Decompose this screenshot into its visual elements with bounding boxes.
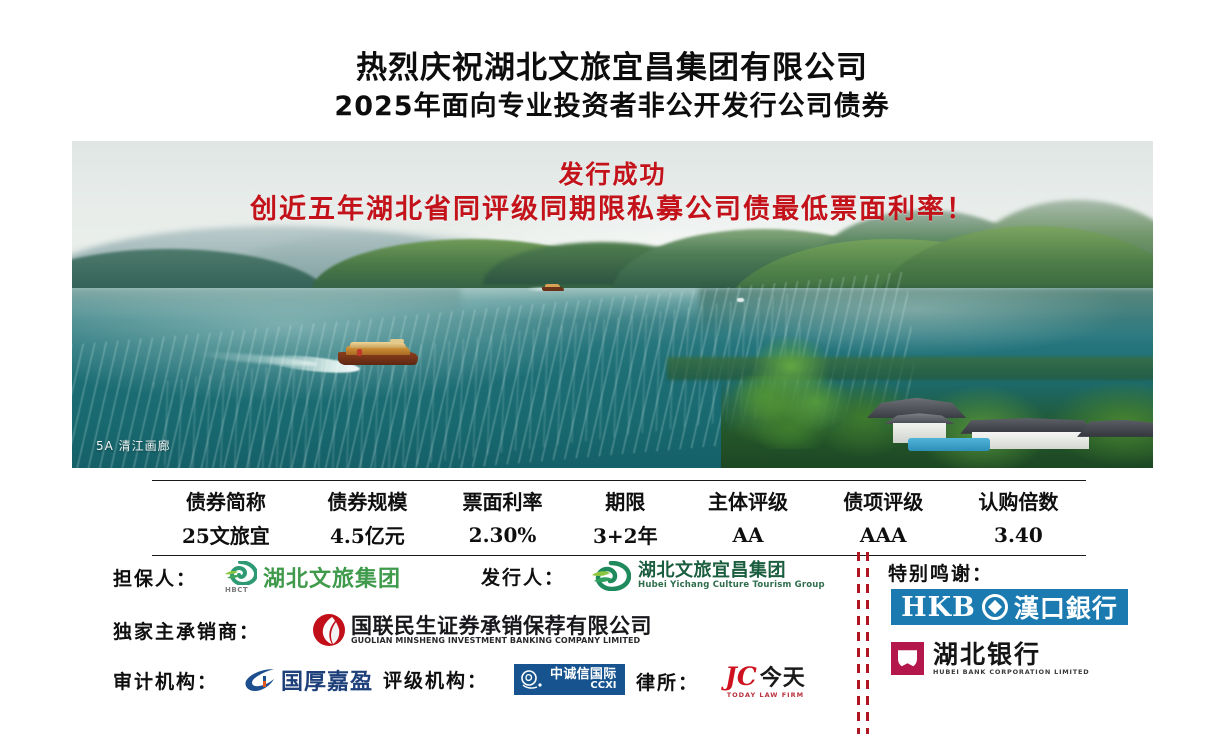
far-roof: [1077, 420, 1153, 437]
hbct-logo: HBCT 湖北文旅集团: [223, 561, 401, 593]
bond-summary-table: 债券简称 债券规模 票面利率 期限 主体评级 债项评级 认购倍数 25文旅宜 4…: [152, 480, 1086, 556]
table-value-cell: 4.5亿元: [300, 519, 435, 556]
law-logo-top: JC 今天: [725, 664, 806, 689]
hbct-swirl-icon: HBCT: [223, 561, 257, 593]
table-header-cell: 票面利率: [435, 481, 570, 520]
issuer-logo: 湖北文旅宜昌集团 Hubei Yichang Culture Tourism G…: [591, 561, 825, 591]
hkb-abbr: HKB: [901, 592, 976, 623]
hbct-name: 湖北文旅集团: [263, 561, 401, 593]
table-value-cell: 3.40: [951, 519, 1086, 556]
auditor-swoosh-icon: [244, 667, 276, 693]
table-header-cell: 债券简称: [152, 481, 300, 520]
law-name-cn: 今天: [760, 667, 806, 689]
hubei-bank-name-cn: 湖北银行: [933, 642, 1089, 667]
issuer-row: 发行人： 湖北文旅宜昌集团 Hubei Yichang Culture Tour…: [481, 561, 825, 591]
boat-flag: [390, 339, 404, 343]
underwriter-name-cn: 国联民生证券承销保荐有限公司: [351, 615, 652, 637]
title-line-2: 2025年面向专业投资者非公开发行公司债券: [0, 88, 1224, 126]
underwriter-label: 独家主承销商：: [113, 617, 260, 644]
auditor-row: 审计机构： 国厚嘉盈: [113, 664, 373, 696]
photo-watermark: 5A 清江画廊: [96, 437, 171, 454]
success-headline: 发行成功 创近五年湖北省同评级同期限私募公司债最低票面利率！: [72, 159, 1153, 229]
guarantor-label: 担保人：: [113, 564, 197, 591]
ccxi-logo-text: 中诚信国际 CCXI: [550, 668, 617, 691]
divider-line-1: [857, 552, 860, 734]
hbct-abbr: HBCT: [225, 586, 248, 594]
rating-agency-label: 评级机构：: [383, 666, 488, 693]
issuer-logo-text: 湖北文旅宜昌集团 Hubei Yichang Culture Tourism G…: [638, 562, 825, 590]
distant-boat-hull: [542, 287, 564, 291]
table-value-cell: AAA: [816, 519, 951, 556]
law-monogram-icon: JC: [725, 664, 757, 689]
underwriter-row: 独家主承销商： 国联民生证券承销保荐有限公司 GUOLIAN MINSHENG …: [113, 613, 652, 647]
table-value-cell: 3+2年: [570, 519, 680, 556]
issuer-name-cn: 湖北文旅宜昌集团: [638, 562, 825, 581]
large-tree: [731, 337, 851, 449]
auditor-logo: 国厚嘉盈: [244, 664, 373, 696]
rating-agency-row: 评级机构： 中诚信国际 CCXI: [383, 664, 625, 695]
hkb-name-cn: 漢口銀行: [1014, 589, 1118, 625]
hbct-leaf-icon: [223, 561, 257, 585]
headline-line-1: 发行成功: [72, 159, 1153, 191]
ccxi-name-en: CCXI: [550, 681, 617, 691]
law-firm-label: 律所：: [636, 668, 699, 695]
hankou-bank-logo: HKB 漢口銀行: [891, 589, 1128, 625]
shore-highlight: [737, 298, 744, 302]
table-value-cell: 25文旅宜: [152, 519, 300, 556]
boat-passenger: [357, 349, 362, 356]
poster-title: 热烈庆祝湖北文旅宜昌集团有限公司 2025年面向专业投资者非公开发行公司债券: [0, 48, 1224, 126]
hubei-bank-mark-icon: [891, 642, 924, 675]
vertical-dashed-divider: [857, 552, 870, 734]
table-value-cell: AA: [680, 519, 815, 556]
table-header-cell: 债券规模: [300, 481, 435, 520]
guarantor-row: 担保人： HBCT 湖北文旅集团: [113, 561, 401, 593]
distant-boat-cabin: [545, 284, 560, 287]
table-header-cell: 期限: [570, 481, 680, 520]
underwriter-logo: 国联民生证券承销保荐有限公司 GUOLIAN MINSHENG INVESTME…: [312, 613, 652, 647]
table-header-cell: 债项评级: [816, 481, 951, 520]
table-value-cell: 2.30%: [435, 519, 570, 556]
tour-boat-icon: [338, 339, 418, 369]
special-thanks-label: 特别鸣谢：: [888, 559, 993, 586]
underwriter-name-en: GUOLIAN MINSHENG INVESTMENT BANKING COMP…: [351, 637, 652, 645]
issuer-label: 发行人：: [481, 563, 565, 590]
ccxi-emblem-icon: [520, 669, 546, 691]
blue-tarp: [908, 438, 990, 451]
auditor-name: 国厚嘉盈: [281, 664, 373, 696]
hkb-diamond-icon: [982, 594, 1008, 620]
village-buildings: [861, 396, 1153, 468]
guolian-flame-icon: [312, 613, 346, 647]
table-header-row: 债券简称 债券规模 票面利率 期限 主体评级 债项评级 认购倍数: [152, 481, 1086, 520]
headline-line-2: 创近五年湖北省同评级同期限私募公司债最低票面利率！: [72, 191, 1153, 229]
today-law-firm-logo: JC 今天 TODAY LAW FIRM: [725, 664, 806, 699]
bond-issuance-poster: 热烈庆祝湖北文旅宜昌集团有限公司 2025年面向专业投资者非公开发行公司债券: [0, 0, 1224, 736]
hubei-bank-name-en: HUBEI BANK CORPORATION LIMITED: [933, 669, 1089, 676]
issuer-leaf-icon: [591, 561, 631, 591]
ccxi-logo: 中诚信国际 CCXI: [514, 664, 625, 695]
hall-body: [972, 432, 1089, 449]
guolian-circle-icon: [312, 613, 346, 647]
title-line-1: 热烈庆祝湖北文旅宜昌集团有限公司: [0, 48, 1224, 88]
issuer-name-en: Hubei Yichang Culture Tourism Group: [638, 581, 825, 590]
table-header-cell: 主体评级: [680, 481, 815, 520]
underwriter-logo-text: 国联民生证券承销保荐有限公司 GUOLIAN MINSHENG INVESTME…: [351, 615, 652, 645]
scenery-photo: 发行成功 创近五年湖北省同评级同期限私募公司债最低票面利率！ 5A 清江画廊: [72, 141, 1153, 468]
hubei-bank-logo-text: 湖北银行 HUBEI BANK CORPORATION LIMITED: [933, 642, 1089, 676]
law-name-en: TODAY LAW FIRM: [727, 691, 804, 699]
auditor-label: 审计机构：: [113, 667, 218, 694]
distant-boat-icon: [542, 283, 564, 291]
table-value-row: 25文旅宜 4.5亿元 2.30% 3+2年 AA AAA 3.40: [152, 519, 1086, 556]
law-firm-row: 律所： JC 今天 TODAY LAW FIRM: [636, 664, 806, 699]
divider-line-2: [866, 552, 869, 734]
hubei-bank-logo: 湖北银行 HUBEI BANK CORPORATION LIMITED: [891, 642, 1089, 676]
table-header-cell: 认购倍数: [951, 481, 1086, 520]
